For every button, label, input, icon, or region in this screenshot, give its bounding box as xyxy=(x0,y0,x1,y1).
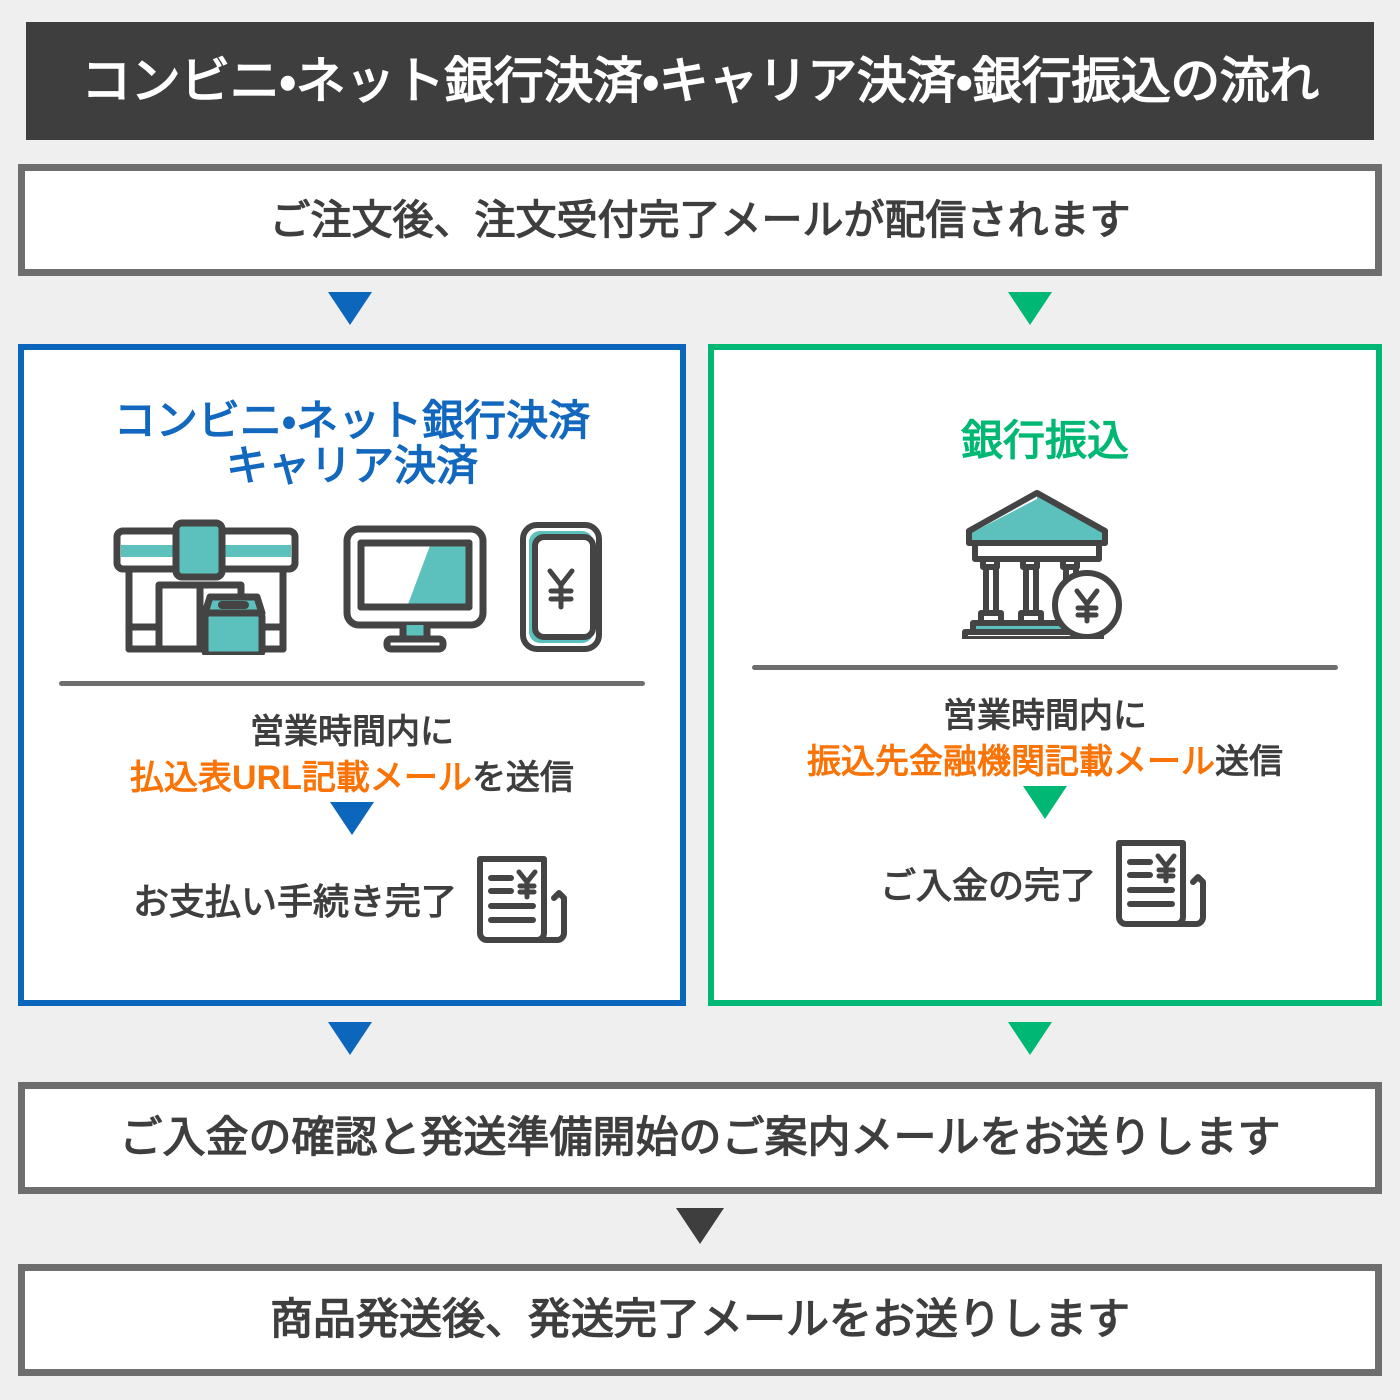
panel-bank-divider xyxy=(752,665,1338,670)
step-shipping-complete: 商品発送後、発送完了メールをお送りします xyxy=(18,1264,1382,1376)
arrow-conveni-to-confirm-icon xyxy=(328,1022,372,1055)
arrow-order-to-conveni-icon xyxy=(328,292,372,325)
step-order-received-label: ご注文後、注文受付完了メールが配信されます xyxy=(270,200,1131,241)
convenience-store-icon xyxy=(97,519,315,655)
panel-convenience-icon-row xyxy=(97,515,607,655)
desktop-monitor-icon xyxy=(341,519,489,655)
page-title: コンビニ・ネット銀行決済・キャリア決済・銀行振込の流れ xyxy=(81,56,1319,106)
smartphone-yen-icon xyxy=(515,519,607,655)
arrow-confirm-to-shipped-icon xyxy=(676,1208,724,1244)
invoice-yen-icon xyxy=(467,851,571,947)
panel-bank-note-highlight: 振込先金融機関記載メール xyxy=(807,743,1215,781)
diagram-header: コンビニ・ネット銀行決済・キャリア決済・銀行振込の流れ xyxy=(26,22,1374,140)
payment-flow-diagram: コンビニ・ネット銀行決済・キャリア決済・銀行振込の流れ ご注文後、注文受付完了メ… xyxy=(0,0,1400,1400)
panel-bank-note-suffix: 送信 xyxy=(1215,743,1283,781)
panel-bank-icon-row xyxy=(959,499,1131,639)
panel-convenience-note-line1: 営業時間内に xyxy=(130,710,574,756)
panel-bank-note: 営業時間内に 振込先金融機関記載メール送信 xyxy=(807,694,1283,786)
panel-convenience-complete-label: お支払い手続き完了 xyxy=(133,873,457,925)
panel-convenience-note-suffix: を送信 xyxy=(472,759,574,797)
panel-bank-complete-row: ご入金の完了 xyxy=(880,835,1210,931)
panel-bank-transfer: 銀行振込 xyxy=(708,344,1382,1006)
step-payment-confirmed: ご入金の確認と発送準備開始のご案内メールをお送りします xyxy=(18,1082,1382,1194)
step-shipping-complete-label: 商品発送後、発送完了メールをお送りします xyxy=(270,1299,1130,1342)
panel-bank-title: 銀行振込 xyxy=(961,418,1129,463)
panel-bank-note-line1: 営業時間内に xyxy=(807,694,1283,740)
arrow-conveni-note-to-complete-icon xyxy=(330,802,374,835)
panel-convenience-complete-row: お支払い手続き完了 xyxy=(133,851,571,947)
step-order-received: ご注文後、注文受付完了メールが配信されます xyxy=(18,164,1382,276)
bank-building-yen-icon xyxy=(959,487,1131,639)
panel-convenience-note-highlight: 払込表URL記載メール xyxy=(130,759,472,797)
panel-convenience-payment: コンビニ・ネット銀行決済 キャリア決済 xyxy=(18,344,686,1006)
panel-convenience-title: コンビニ・ネット銀行決済 キャリア決済 xyxy=(114,398,590,489)
panel-bank-complete-label: ご入金の完了 xyxy=(880,857,1096,909)
panel-bank-note-line2: 振込先金融機関記載メール送信 xyxy=(807,740,1283,786)
invoice-yen-icon xyxy=(1106,835,1210,931)
panel-convenience-note: 営業時間内に 払込表URL記載メールを送信 xyxy=(130,710,574,802)
arrow-bank-note-to-complete-icon xyxy=(1023,786,1067,819)
arrow-bank-to-confirm-icon xyxy=(1008,1022,1052,1055)
arrow-order-to-bank-icon xyxy=(1008,292,1052,325)
panel-convenience-note-line2: 払込表URL記載メールを送信 xyxy=(130,756,574,802)
step-payment-confirmed-label: ご入金の確認と発送準備開始のご案内メールをお送りします xyxy=(120,1117,1281,1160)
panel-convenience-divider xyxy=(59,681,645,686)
